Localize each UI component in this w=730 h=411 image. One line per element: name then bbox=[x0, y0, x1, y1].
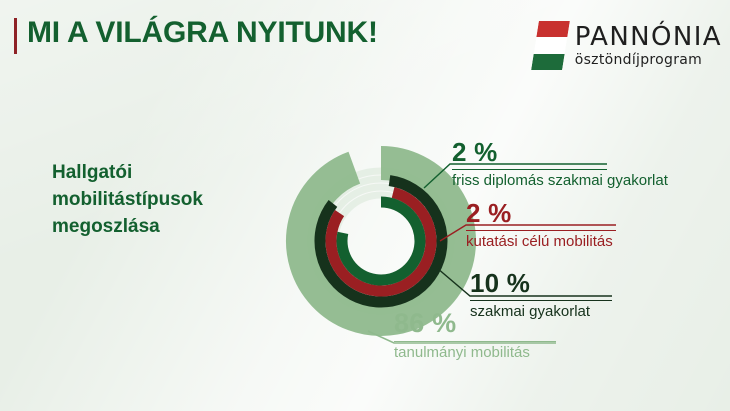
callout-4-value: 86 % bbox=[394, 310, 556, 337]
page-title: MI A VILÁGRA NYITUNK! bbox=[27, 16, 378, 50]
logo-name: PANNÓNIA bbox=[575, 24, 722, 50]
chart-caption: Hallgatói mobilitástípusok megoszlása bbox=[52, 160, 267, 241]
title-accent-bar bbox=[14, 18, 17, 54]
logo-wordmark: PANNÓNIA ösztöndíjprogram bbox=[575, 24, 722, 67]
callout-1-rule bbox=[452, 169, 607, 170]
infographic-canvas: MI A VILÁGRA NYITUNK! PANNÓNIA ösztöndíj… bbox=[0, 0, 730, 411]
callout-2-value: 2 % bbox=[466, 200, 616, 226]
callout-1-label: friss diplomás szakmai gyakorlat bbox=[452, 173, 668, 190]
callout-kutatasi: 2 % kutatási célú mobilitás bbox=[466, 200, 616, 251]
donut-arc-4 bbox=[342, 202, 420, 280]
callout-4-rule bbox=[394, 341, 556, 342]
pannonia-logo: PANNÓNIA ösztöndíjprogram bbox=[535, 21, 722, 70]
callout-1-value: 2 % bbox=[452, 139, 668, 165]
callout-2-label: kutatási célú mobilitás bbox=[466, 234, 616, 251]
logo-subtitle: ösztöndíjprogram bbox=[575, 53, 722, 67]
callout-4-label: tanulmányi mobilitás bbox=[394, 345, 556, 362]
callout-2-rule bbox=[466, 230, 616, 231]
callout-tanulmanyi: 86 % tanulmányi mobilitás bbox=[394, 310, 556, 362]
hungarian-flag-icon bbox=[531, 21, 570, 70]
callout-3-value: 10 % bbox=[470, 270, 612, 296]
callout-friss-diplomas: 2 % friss diplomás szakmai gyakorlat bbox=[452, 139, 668, 190]
callout-3-rule bbox=[470, 300, 612, 301]
